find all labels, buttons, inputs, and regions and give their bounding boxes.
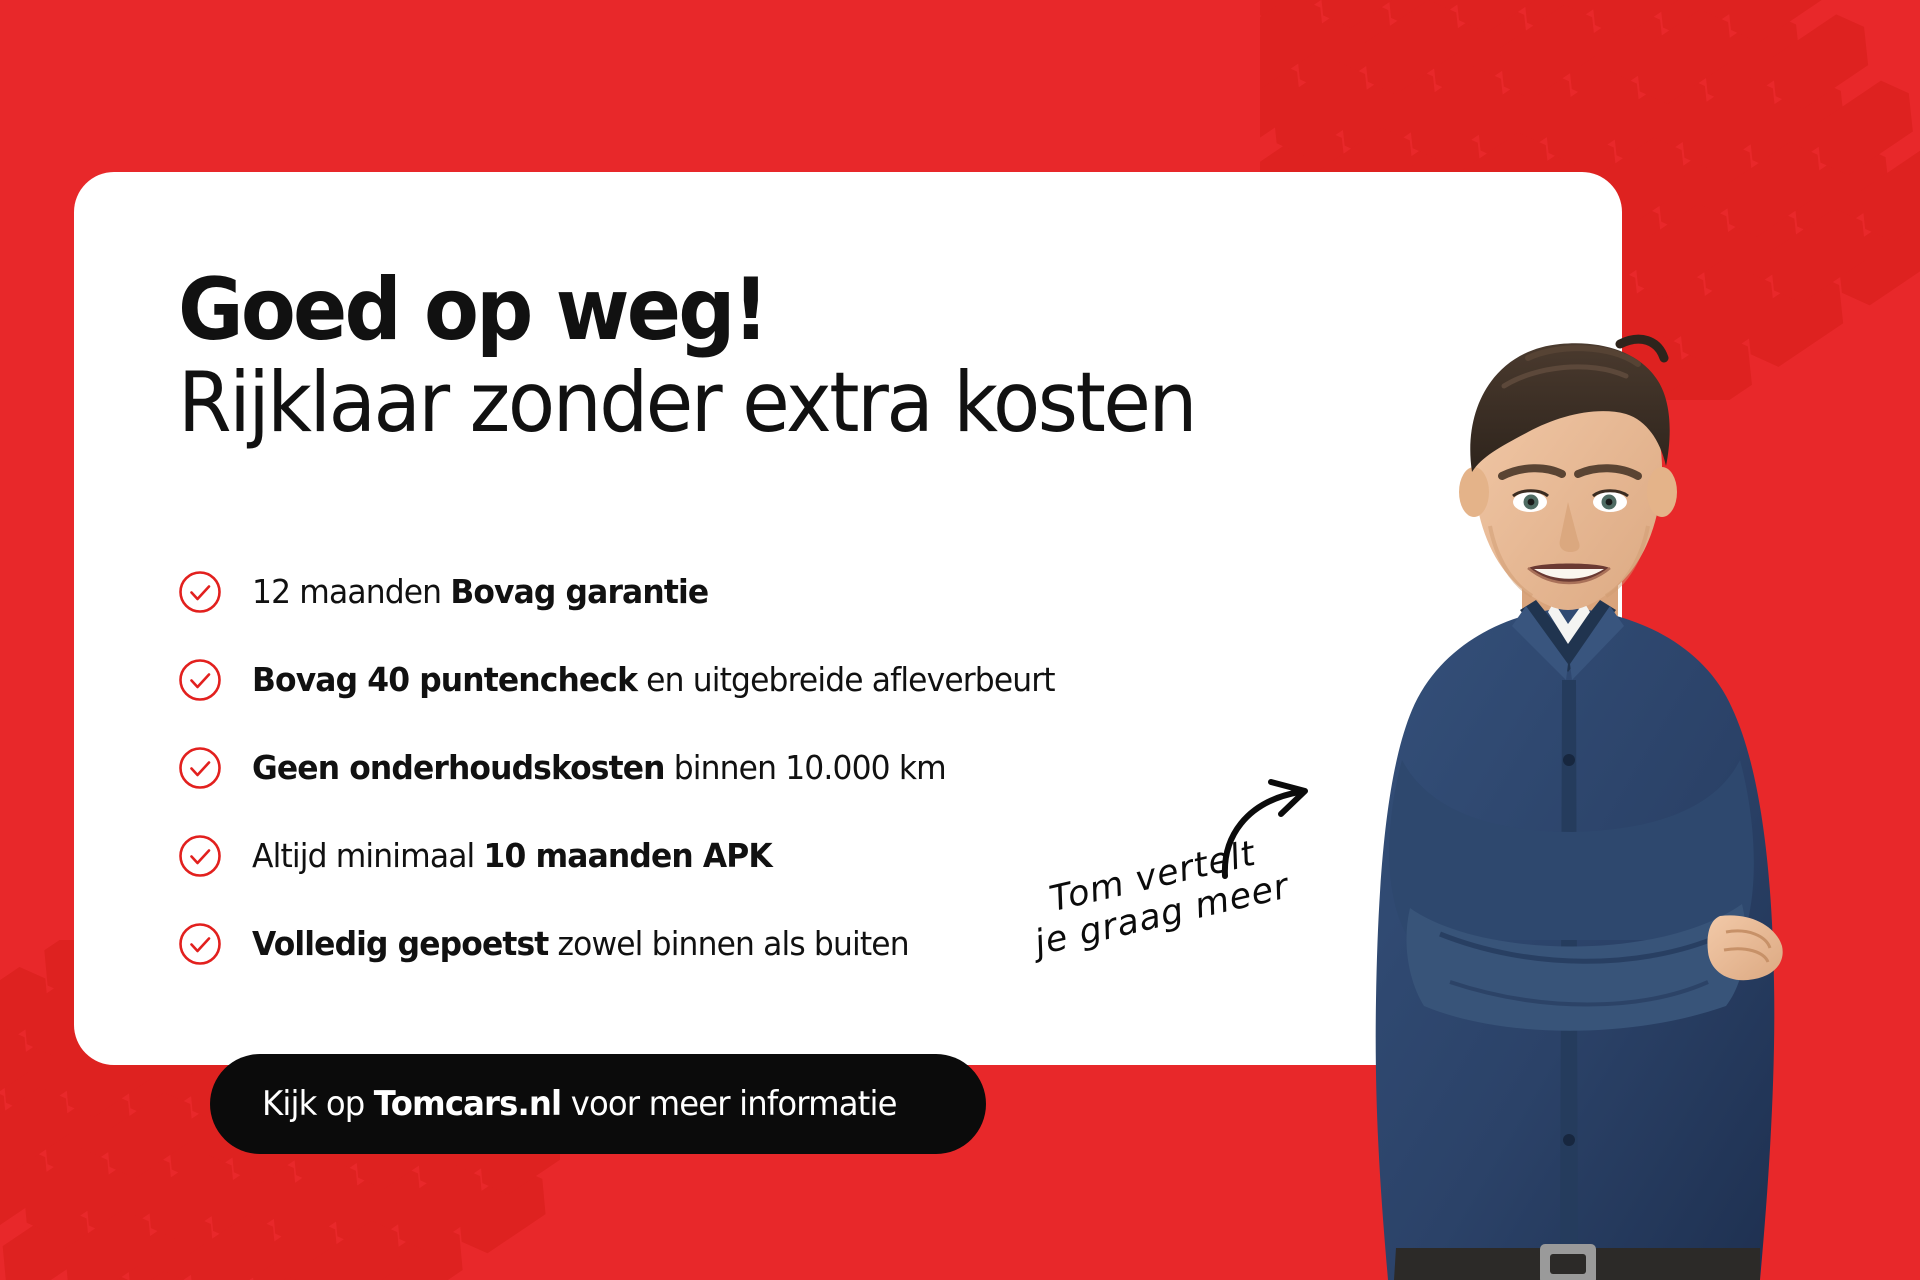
- list-item-label: Geen onderhoudskosten binnen 10.000 km: [252, 748, 946, 787]
- cta-button-label: Kijk op Tomcars.nl voor meer informatie: [262, 1084, 897, 1124]
- list-item: 12 maanden Bovag garantie: [178, 556, 1097, 627]
- headline-primary: Goed op weg!: [178, 268, 1195, 352]
- list-item-label: 12 maanden Bovag garantie: [252, 572, 708, 611]
- cta-button[interactable]: Kijk op Tomcars.nl voor meer informatie: [210, 1054, 986, 1154]
- headline-secondary: Rijklaar zonder extra kosten: [178, 358, 1195, 448]
- list-item: Altijd minimaal 10 maanden APK: [178, 820, 1097, 891]
- list-item-label: Altijd minimaal 10 maanden APK: [252, 836, 772, 875]
- list-item: Geen onderhoudskosten binnen 10.000 km: [178, 732, 1097, 803]
- benefits-list: 12 maanden Bovag garantie Bovag 40 punte…: [178, 556, 1097, 996]
- headline-block: Goed op weg! Rijklaar zonder extra koste…: [178, 268, 1272, 448]
- check-circle-icon: [178, 658, 222, 702]
- check-circle-icon: [178, 570, 222, 614]
- check-circle-icon: [178, 746, 222, 790]
- avatar: [1290, 240, 1850, 1280]
- list-item: Volledig gepoetst zowel binnen als buite…: [178, 908, 1097, 979]
- list-item-label: Volledig gepoetst zowel binnen als buite…: [252, 924, 909, 963]
- list-item: Bovag 40 puntencheck en uitgebreide afle…: [178, 644, 1097, 715]
- check-circle-icon: [178, 834, 222, 878]
- list-item-label: Bovag 40 puntencheck en uitgebreide afle…: [252, 660, 1055, 699]
- check-circle-icon: [178, 922, 222, 966]
